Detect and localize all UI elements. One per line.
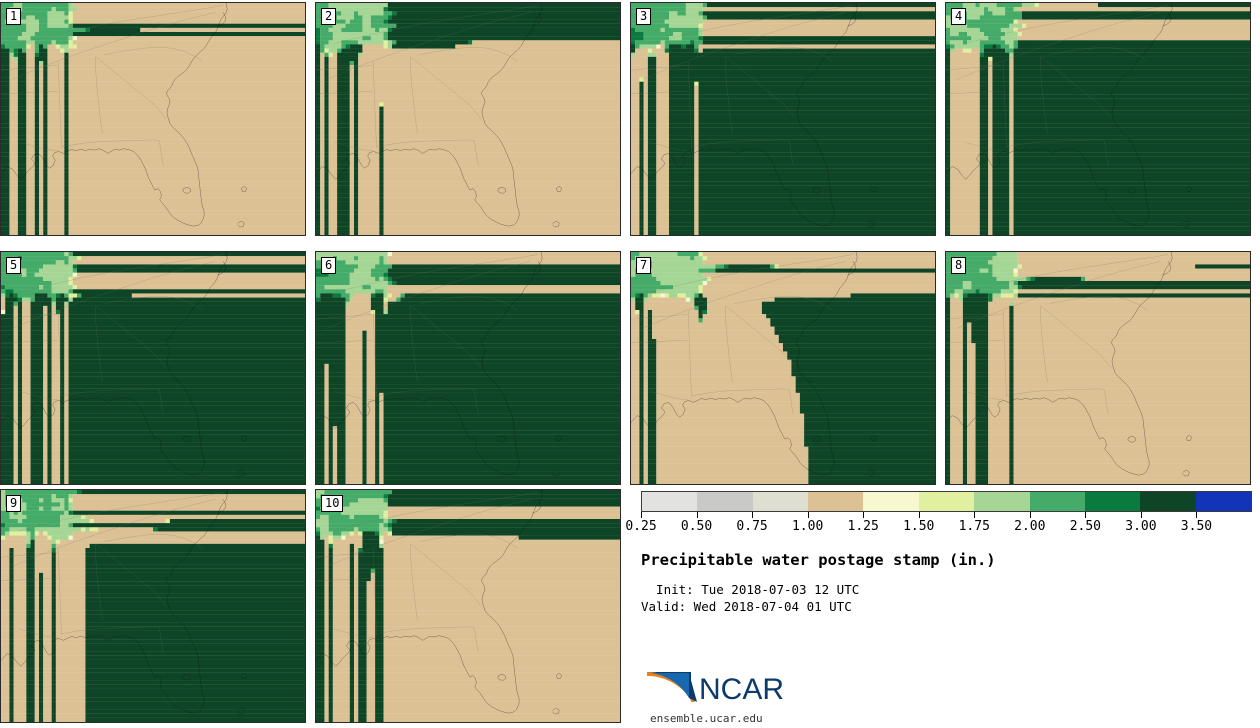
ncar-logo: NCAR xyxy=(645,668,795,706)
ncar-logo-mark xyxy=(647,672,697,702)
figure-title: Precipitable water postage stamp (in.) xyxy=(641,551,996,569)
colorbar-tick xyxy=(641,512,642,518)
colorbar-swatch xyxy=(974,492,1029,511)
colorbar-tick xyxy=(1030,512,1031,518)
map-panel-member-8[interactable]: 8 xyxy=(945,251,1251,485)
colorbar-swatch xyxy=(1140,492,1195,511)
ncar-logo-text: NCAR xyxy=(699,673,784,706)
colorbar-swatch xyxy=(1030,492,1085,511)
valid-time-line: Valid: Wed 2018-07-04 01 UTC xyxy=(641,598,852,615)
colorbar-tick xyxy=(808,512,809,518)
panel-number-label: 9 xyxy=(6,495,21,512)
colorbar-swatches xyxy=(641,491,1252,512)
precipitable-water-field xyxy=(946,3,1250,235)
colorbar-swatch xyxy=(642,492,697,511)
colorbar-tick-label: 1.50 xyxy=(903,519,934,534)
precipitable-water-field xyxy=(946,252,1250,484)
panel-number-label: 10 xyxy=(321,495,343,512)
panel-number-label: 3 xyxy=(636,8,651,25)
map-panel-member-5[interactable]: 5 xyxy=(0,251,306,485)
precipitable-water-field xyxy=(316,3,620,235)
colorbar-tick-label: 0.50 xyxy=(681,519,712,534)
colorbar-tick-label: 0.25 xyxy=(625,519,656,534)
colorbar-tick-label: 3.00 xyxy=(1125,519,1156,534)
precipitable-water-field xyxy=(1,490,305,722)
map-panel-member-10[interactable]: 10 xyxy=(315,489,621,723)
panel-number-label: 5 xyxy=(6,257,21,274)
panel-number-label: 6 xyxy=(321,257,336,274)
precipitable-water-field xyxy=(631,3,935,235)
precipitable-water-field xyxy=(631,252,935,484)
postage-stamp-figure: 12345678910 0.250.500.751.001.251.501.75… xyxy=(0,0,1260,728)
panel-number-label: 2 xyxy=(321,8,336,25)
panel-number-label: 8 xyxy=(951,257,966,274)
precipitable-water-field xyxy=(316,252,620,484)
map-panel-member-3[interactable]: 3 xyxy=(630,2,936,236)
colorbar-swatch xyxy=(697,492,752,511)
colorbar-tick xyxy=(752,512,753,518)
colorbar-tick-labels: 0.250.500.751.001.251.501.752.002.503.00… xyxy=(636,519,1257,535)
map-panel-member-7[interactable]: 7 xyxy=(630,251,936,485)
colorbar-tick-label: 2.50 xyxy=(1070,519,1101,534)
colorbar-tick xyxy=(1085,512,1086,518)
colorbar-tick-label: 3.50 xyxy=(1181,519,1212,534)
colorbar-swatch xyxy=(863,492,918,511)
panel-number-label: 4 xyxy=(951,8,966,25)
precipitable-water-field xyxy=(1,3,305,235)
map-panel-member-6[interactable]: 6 xyxy=(315,251,621,485)
colorbar-tick xyxy=(919,512,920,518)
colorbar-tick-label: 1.25 xyxy=(848,519,879,534)
colorbar-tick-label: 1.00 xyxy=(792,519,823,534)
colorbar-tick xyxy=(974,512,975,518)
colorbar-tick-label: 0.75 xyxy=(736,519,767,534)
colorbar-swatch xyxy=(1196,492,1251,511)
colorbar-swatch xyxy=(919,492,974,511)
colorbar-tick xyxy=(1196,512,1197,518)
colorbar-swatch xyxy=(753,492,808,511)
map-panel-member-2[interactable]: 2 xyxy=(315,2,621,236)
map-panel-member-9[interactable]: 9 xyxy=(0,489,306,723)
colorbar xyxy=(641,491,1252,512)
colorbar-tick xyxy=(1141,512,1142,518)
panel-number-label: 7 xyxy=(636,257,651,274)
colorbar-tick-label: 1.75 xyxy=(959,519,990,534)
map-panel-member-1[interactable]: 1 xyxy=(0,2,306,236)
precipitable-water-field xyxy=(316,490,620,722)
colorbar-swatch xyxy=(808,492,863,511)
init-time-line: Init: Tue 2018-07-03 12 UTC xyxy=(641,581,859,598)
ncar-url: ensemble.ucar.edu xyxy=(650,712,763,725)
panel-number-label: 1 xyxy=(6,8,21,25)
map-panel-member-4[interactable]: 4 xyxy=(945,2,1251,236)
precipitable-water-field xyxy=(1,252,305,484)
colorbar-tick xyxy=(863,512,864,518)
colorbar-tick-label: 2.00 xyxy=(1014,519,1045,534)
colorbar-tick xyxy=(697,512,698,518)
colorbar-swatch xyxy=(1085,492,1140,511)
